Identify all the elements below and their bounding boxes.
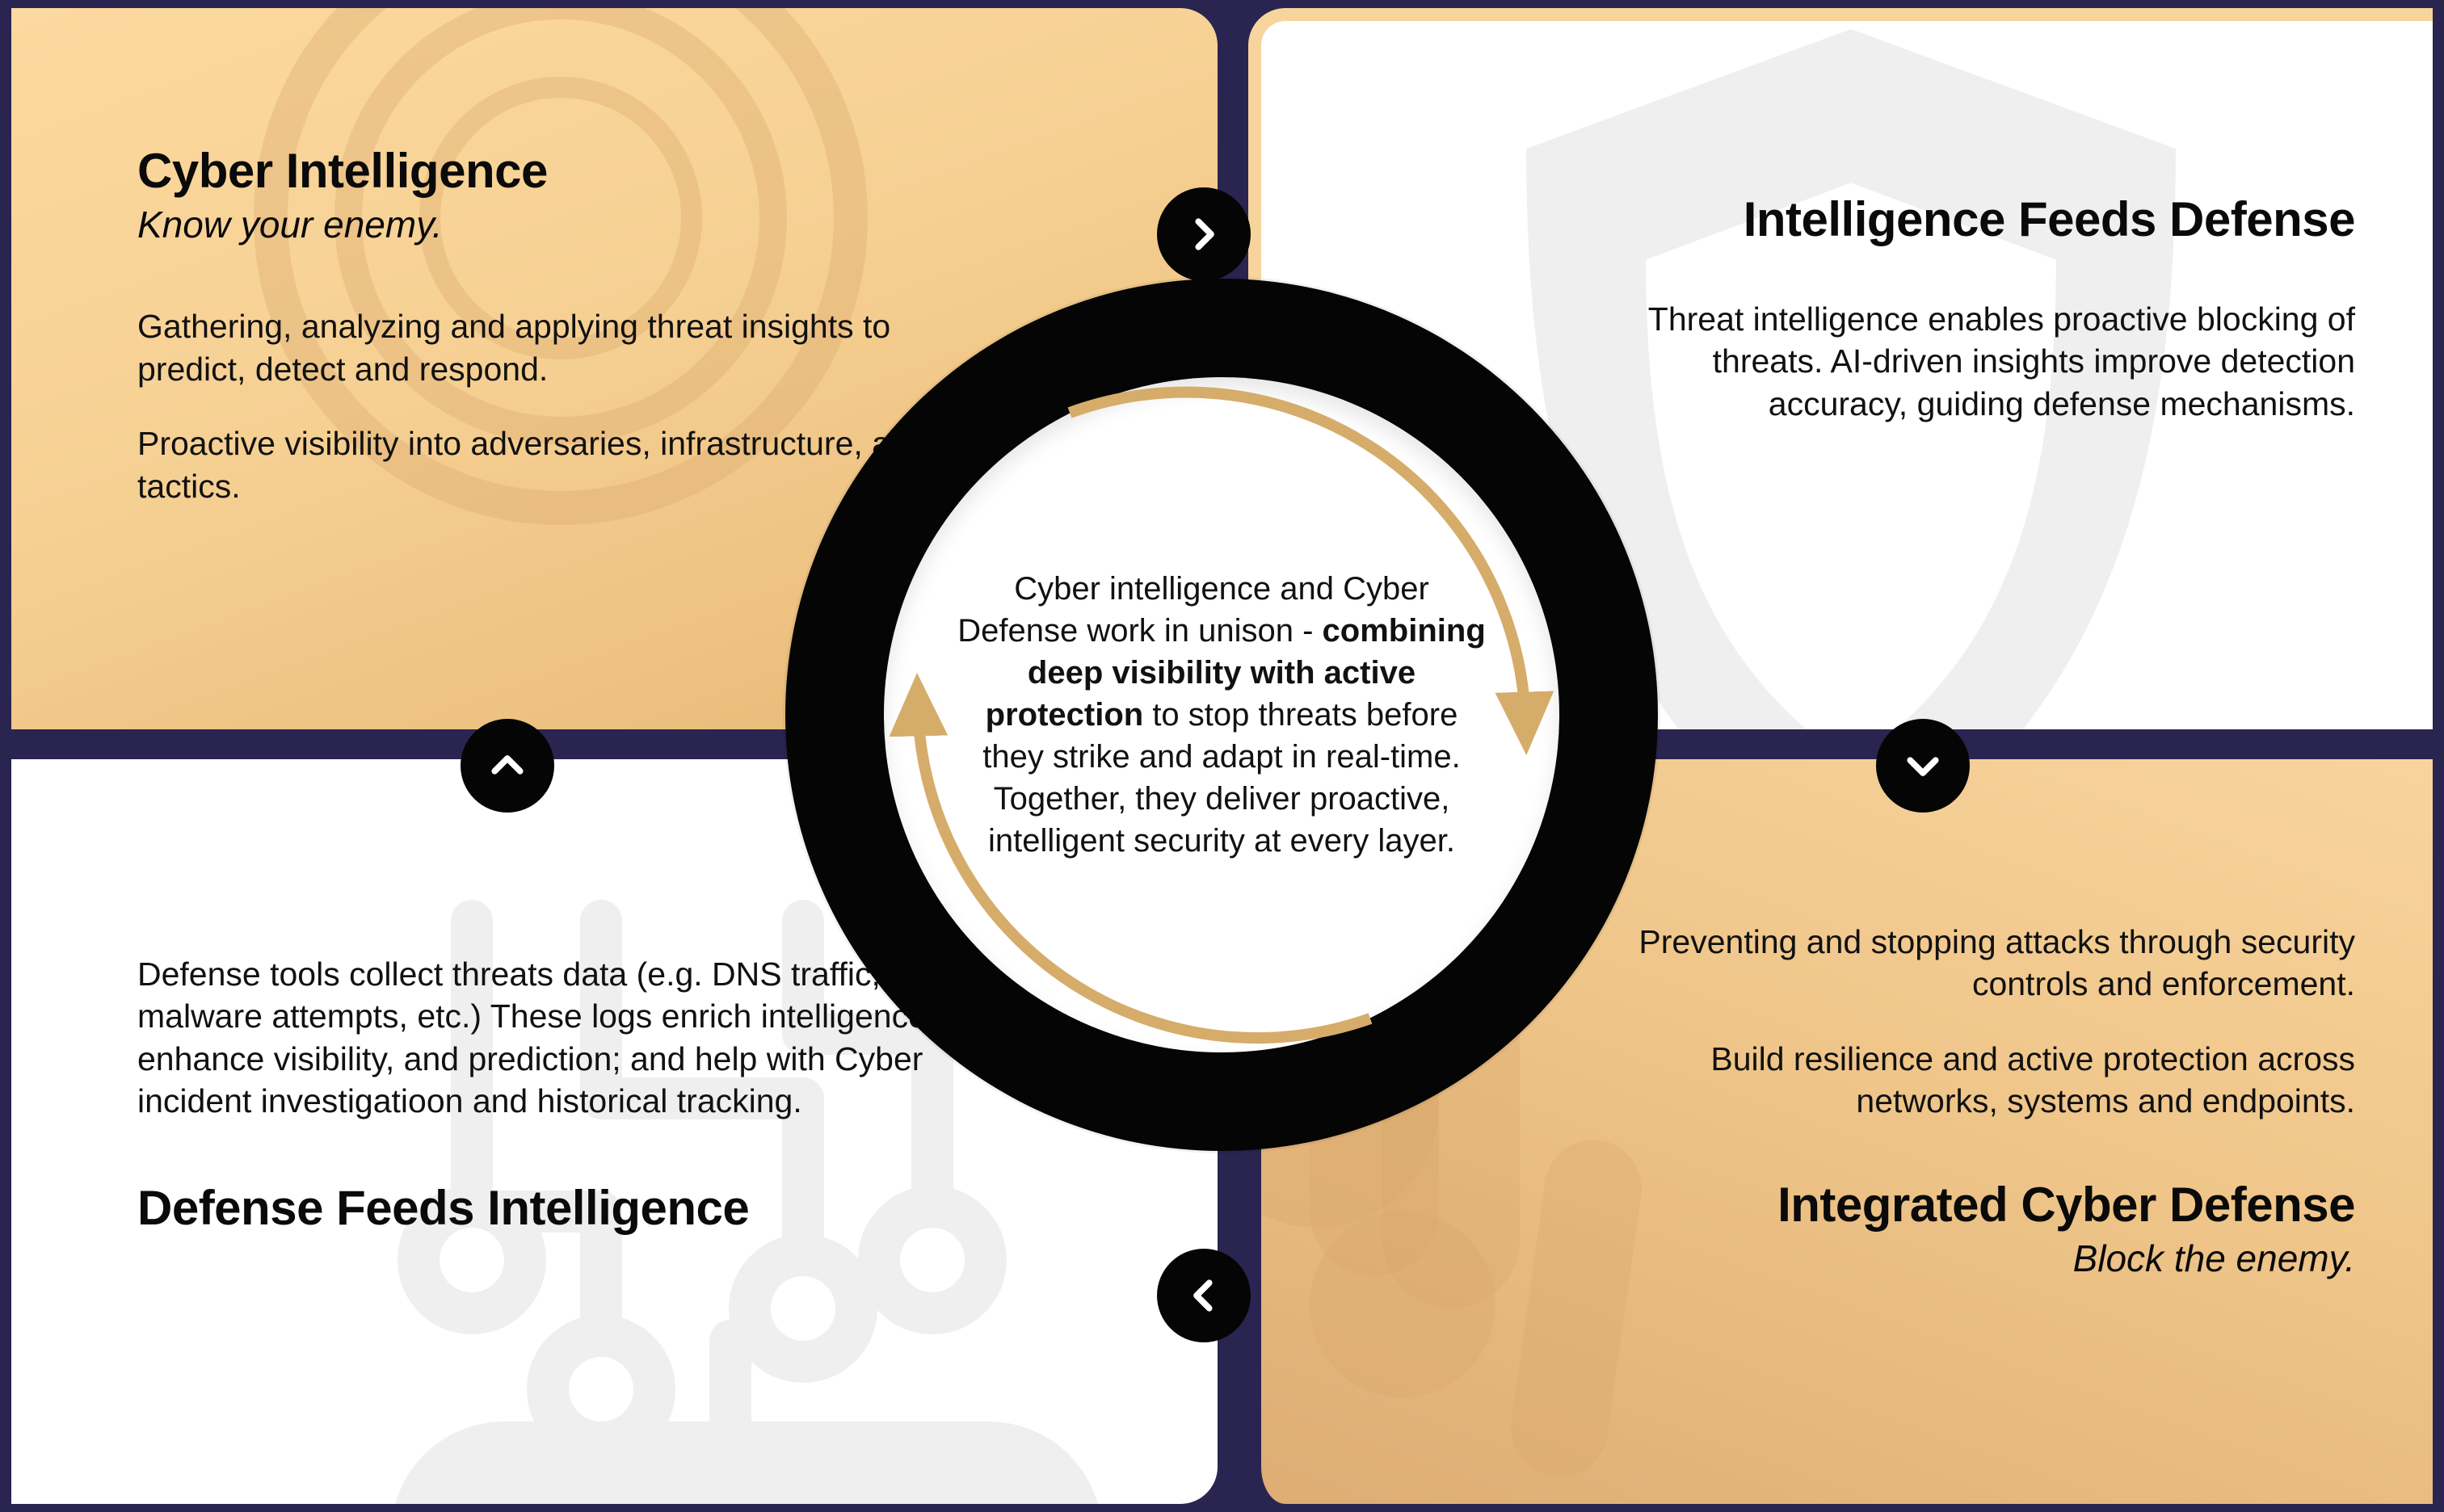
chevron-down-button[interactable]: Down xyxy=(1876,719,1970,813)
top-right-paragraph-1: Threat intelligence enables proactive bl… xyxy=(1580,298,2355,425)
bottom-right-paragraph-2: Build resilience and active protection a… xyxy=(1580,1038,2355,1123)
bottom-right-paragraph-1: Preventing and stopping attacks through … xyxy=(1580,921,2355,1006)
ring-cycle-arrows xyxy=(785,279,1658,1151)
chevron-left-icon xyxy=(1182,1274,1226,1317)
top-left-subtitle: Know your enemy. xyxy=(137,203,953,247)
chevron-right-button[interactable]: Next xyxy=(1157,187,1251,281)
bottom-right-title: Integrated Cyber Defense xyxy=(1580,1179,2355,1230)
top-left-title: Cyber Intelligence xyxy=(137,145,953,196)
chevron-left-button[interactable]: Previous xyxy=(1157,1249,1251,1342)
bottom-right-subtitle: Block the enemy. xyxy=(1580,1237,2355,1281)
chevron-down-icon xyxy=(1901,744,1945,787)
bottom-left-title: Defense Feeds Intelligence xyxy=(137,1182,953,1233)
arrow-clockwise xyxy=(1070,392,1525,721)
chevron-right-icon xyxy=(1182,212,1226,256)
cycle-diagram: Cyber intelligence and Cyber Defense wor… xyxy=(785,279,1658,1151)
quadrant-text-bottom-right: Preventing and stopping attacks through … xyxy=(1580,921,2355,1281)
quadrant-text-top-right: Intelligence Feeds Defense Threat intell… xyxy=(1580,194,2355,425)
infographic-canvas: Cyber Intelligence Know your enemy. Gath… xyxy=(0,0,2444,1512)
chevron-up-button[interactable]: Up xyxy=(461,719,554,813)
top-right-title: Intelligence Feeds Defense xyxy=(1580,194,2355,245)
arrow-counterclockwise xyxy=(918,707,1370,1038)
chevron-up-icon xyxy=(486,744,529,787)
